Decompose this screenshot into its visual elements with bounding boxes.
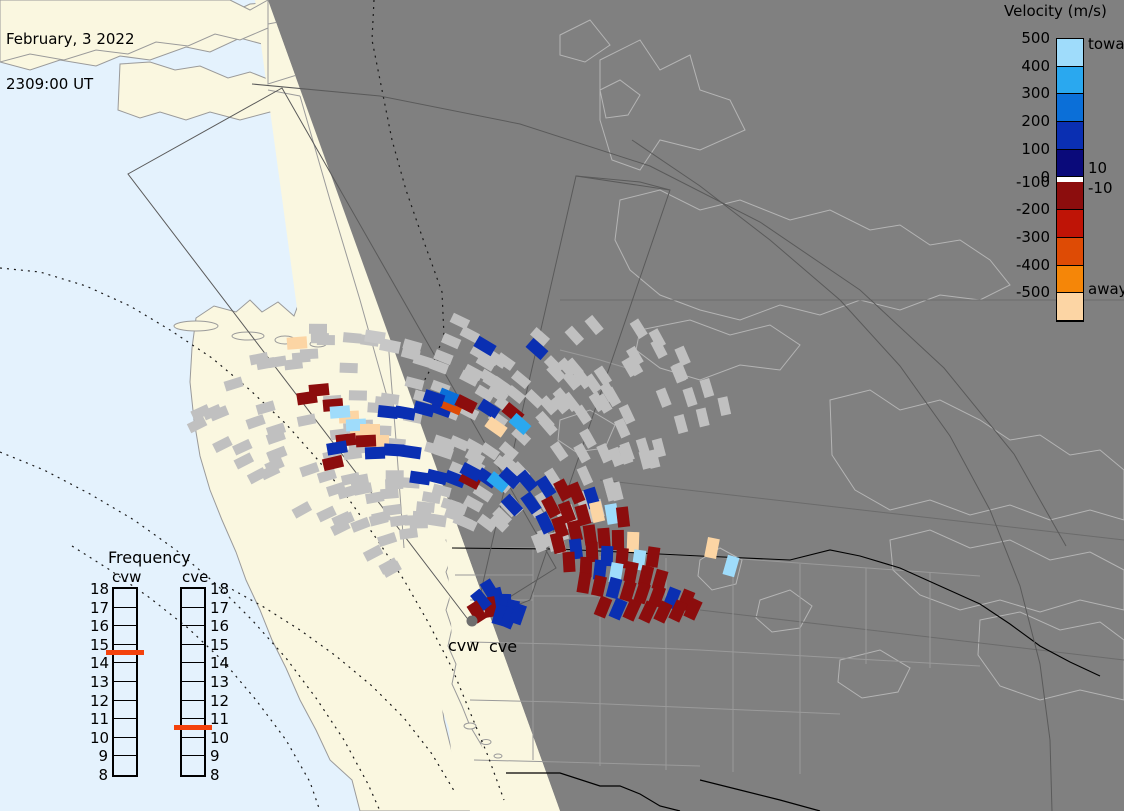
frequency-label-cve: cve: [182, 568, 208, 586]
colorbar-band-6: [1057, 182, 1083, 210]
site-label-cvw: cvw: [448, 636, 479, 655]
colorbar-tick-2: 300: [990, 84, 1050, 102]
colorbar-band-0: [1057, 39, 1083, 67]
colorbar-tick-labels: 5004003002001000-100-200-300-400-500: [984, 0, 1050, 811]
frequency-marker-cvw: [106, 650, 144, 655]
frequency-tick-8: 8: [210, 768, 232, 783]
colorbar-tick-4: 100: [990, 140, 1050, 158]
frequency-tick-11: 11: [90, 712, 108, 727]
colorbar-tick-1: 400: [990, 57, 1050, 75]
frequency-segment: [182, 608, 204, 627]
frequency-tick-10: 10: [210, 731, 232, 746]
colorbar-band-9: [1057, 266, 1083, 294]
frequency-tick-12: 12: [90, 694, 108, 709]
frequency-segment: [182, 738, 204, 757]
frequency-segment: [114, 719, 136, 738]
colorbar-tick-6: -100: [990, 173, 1050, 191]
ground-scatter-cell: [292, 352, 311, 364]
ground-scatter-cell: [340, 363, 358, 374]
frequency-bar-cve[interactable]: [180, 587, 206, 777]
frequency-tick-17: 17: [210, 601, 232, 616]
ground-scatter-cell: [416, 501, 435, 513]
frequency-tick-11: 11: [210, 712, 232, 727]
colorbar-tick-0: 500: [990, 29, 1050, 47]
frequency-segment: [114, 663, 136, 682]
frequency-segment: [182, 756, 204, 775]
frequency-segment: [114, 682, 136, 701]
colorbar-tick-10: -500: [990, 283, 1050, 301]
velocity-cell: [360, 424, 380, 436]
velocity-cell: [287, 336, 308, 349]
frequency-tick-9: 9: [210, 749, 232, 764]
frequency-tick-16: 16: [90, 619, 108, 634]
ground-scatter-cell: [349, 390, 367, 400]
frequency-segment: [182, 663, 204, 682]
frequency-segment: [114, 756, 136, 775]
frequency-segment: [182, 589, 204, 608]
frequency-tick-13: 13: [90, 675, 108, 690]
frequency-legend: Frequency cvw cve 18171615141312111098 1…: [90, 548, 250, 788]
ground-scatter-cell: [385, 479, 403, 489]
frequency-segment: [182, 626, 204, 645]
frequency-tick-8: 8: [90, 768, 108, 783]
ground-scatter-cell: [311, 333, 329, 343]
frequency-tick-13: 13: [210, 675, 232, 690]
frequency-segment: [114, 738, 136, 757]
velocity-cell: [330, 405, 351, 418]
colorbar-tick-7: -200: [990, 200, 1050, 218]
colorbar-negative-threshold: -10: [1088, 179, 1113, 197]
velocity-cell: [612, 530, 624, 550]
ground-scatter-cell: [386, 470, 404, 480]
frequency-segment: [182, 701, 204, 720]
site-label-cve: cve: [489, 637, 517, 656]
frequency-bar-cvw[interactable]: [112, 587, 138, 777]
velocity-cell: [616, 506, 630, 527]
ground-scatter-cell: [309, 324, 327, 334]
ground-scatter-cell: [410, 518, 428, 528]
colorbar-toward-label: toward: [1088, 35, 1124, 53]
frequency-tick-18: 18: [210, 582, 232, 597]
header-date: February, 3 2022: [6, 32, 135, 47]
frequency-tick-18: 18: [90, 582, 108, 597]
frequency-label-cvw: cvw: [112, 568, 141, 586]
frequency-segment: [182, 645, 204, 664]
colorbar-band-2: [1057, 94, 1083, 122]
velocity-cell: [365, 447, 385, 460]
frequency-segment: [182, 682, 204, 701]
frequency-marker-cve: [174, 725, 212, 730]
colorbar-band-7: [1057, 210, 1083, 238]
frequency-segment: [114, 608, 136, 627]
header-time: 2309:00 UT: [6, 77, 135, 92]
frequency-title: Frequency: [108, 548, 191, 567]
colorbar-band-10: [1057, 293, 1083, 321]
ground-scatter-cell: [380, 488, 399, 500]
superdarn-map-view: February, 3 2022 2309:00 UT Velocity (m/…: [0, 0, 1124, 811]
radar-site-dot: [467, 616, 478, 627]
colorbar-tick-9: -400: [990, 256, 1050, 274]
velocity-cell: [356, 435, 377, 448]
colorbar-band-8: [1057, 238, 1083, 266]
colorbar-away-label: away: [1088, 280, 1124, 298]
colorbar-band-1: [1057, 67, 1083, 95]
colorbar-band-4: [1057, 150, 1083, 178]
velocity-cell: [597, 528, 610, 549]
frequency-tick-14: 14: [90, 656, 108, 671]
ground-scatter-cell: [343, 332, 362, 344]
velocity-cell: [562, 552, 575, 573]
colorbar-tick-8: -300: [990, 228, 1050, 246]
frequency-segment: [114, 626, 136, 645]
frequency-tick-9: 9: [90, 749, 108, 764]
timestamp-header: February, 3 2022 2309:00 UT: [6, 2, 135, 122]
colorbar-band-3: [1057, 122, 1083, 150]
frequency-tick-10: 10: [90, 731, 108, 746]
frequency-tick-12: 12: [210, 694, 232, 709]
frequency-segment: [114, 701, 136, 720]
colorbar-tick-3: 200: [990, 112, 1050, 130]
velocity-colorbar: [1056, 38, 1084, 322]
frequency-tick-17: 17: [90, 601, 108, 616]
frequency-tick-14: 14: [210, 656, 232, 671]
frequency-tick-15: 15: [210, 638, 232, 653]
colorbar-positive-threshold: 10: [1088, 159, 1107, 177]
frequency-tick-16: 16: [210, 619, 232, 634]
frequency-segment: [114, 589, 136, 608]
